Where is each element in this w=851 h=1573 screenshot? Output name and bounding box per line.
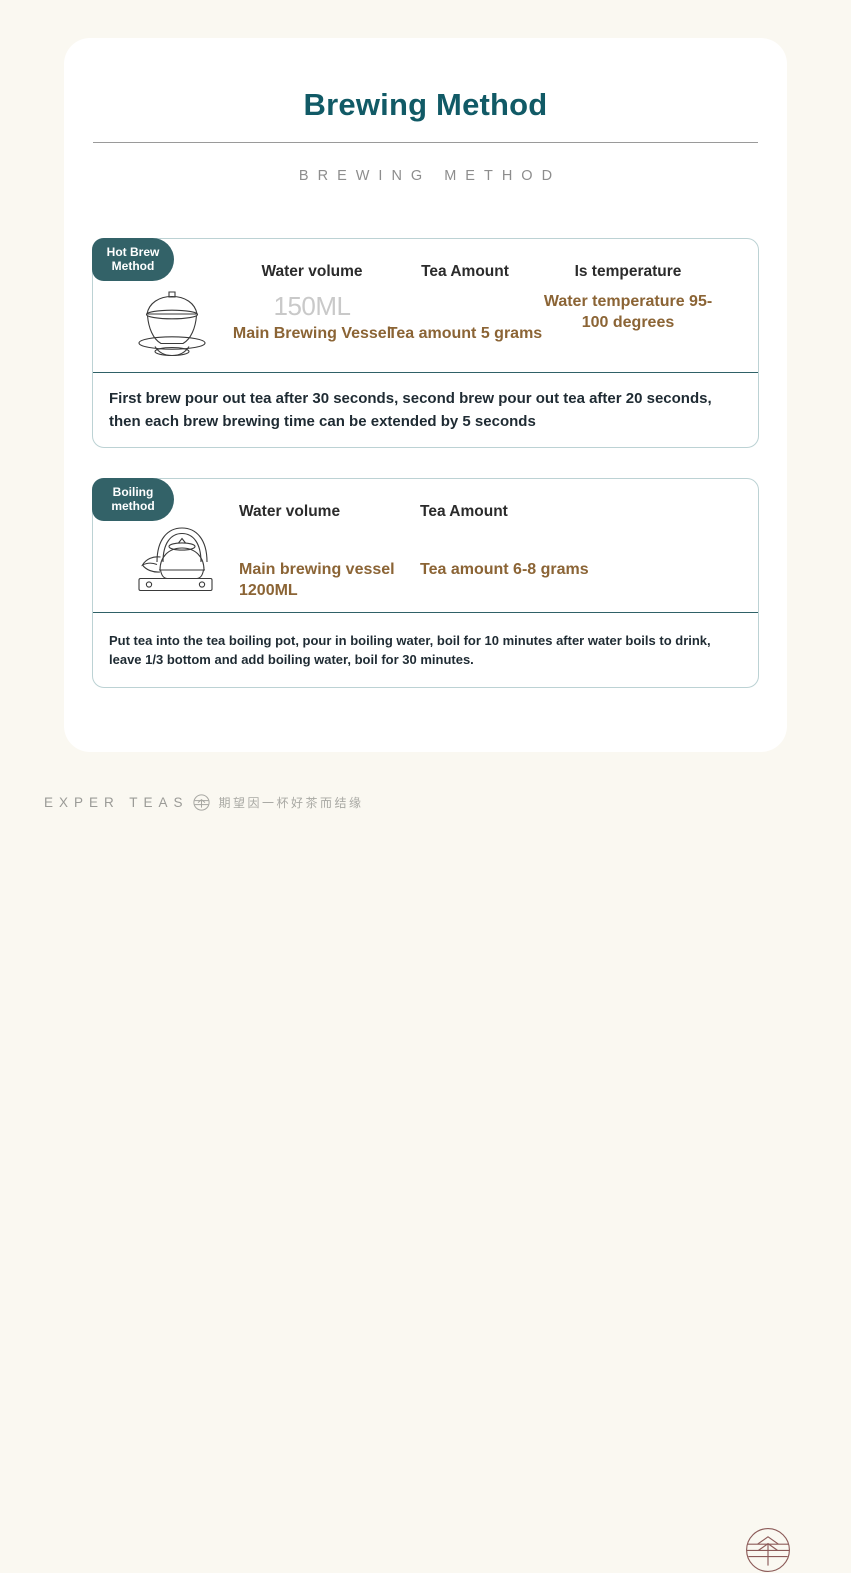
page-root: Brewing Method BREWING METHOD Hot Brew M… bbox=[0, 0, 851, 845]
circle-seal-icon bbox=[193, 794, 210, 811]
page-subtitle: BREWING METHOD bbox=[64, 168, 787, 184]
column-header-temperature: Is temperature bbox=[533, 263, 723, 281]
brewing-card-boiling: Boiling method bbox=[92, 478, 759, 688]
tab-label-line1: Boiling bbox=[113, 485, 154, 499]
content-panel: Brewing Method BREWING METHOD Hot Brew M… bbox=[64, 38, 787, 752]
card-tab-hot-brew[interactable]: Hot Brew Method bbox=[92, 238, 174, 281]
brand-tagline-cn: 期望因一杯好茶而结缘 bbox=[219, 794, 364, 811]
page-footer: EXPER TEAS 期望因一杯好茶而结缘 bbox=[0, 752, 851, 845]
card-tab-boiling[interactable]: Boiling method bbox=[92, 478, 174, 521]
kettle-icon bbox=[133, 517, 219, 598]
page-title: Brewing Method bbox=[64, 87, 787, 123]
card-body: Boiling method bbox=[93, 479, 758, 687]
column-header-tea-amount: Tea Amount bbox=[420, 503, 508, 521]
circle-seal-logo-icon bbox=[745, 1527, 791, 1573]
column-header-water-volume: Water volume bbox=[239, 503, 340, 521]
water-volume-watermark: 150ML bbox=[227, 291, 397, 322]
tab-label-line1: Hot Brew bbox=[107, 245, 160, 259]
brand-name: EXPER TEAS bbox=[44, 795, 189, 810]
card-divider bbox=[93, 372, 758, 373]
card-divider bbox=[93, 612, 758, 613]
card-body: Hot Brew Method bbox=[93, 239, 758, 447]
card-note-boiling: Put tea into the tea boiling pot, pour i… bbox=[109, 631, 742, 669]
tab-label-line2: Method bbox=[112, 259, 155, 273]
value-temperature: Water temperature 95-100 degrees bbox=[533, 291, 723, 333]
brewing-card-hot-brew: Hot Brew Method bbox=[92, 238, 759, 448]
brand-lockup: EXPER TEAS 期望因一杯好茶而结缘 bbox=[44, 794, 364, 811]
column-header-tea-amount: Tea Amount bbox=[380, 263, 550, 281]
tab-label-line2: method bbox=[111, 499, 154, 513]
value-tea-amount: Tea amount 5 grams bbox=[380, 323, 550, 344]
gaiwan-icon bbox=[133, 283, 211, 364]
value-water-volume: Main Brewing Vessel bbox=[227, 323, 397, 344]
value-water-volume: Main brewing vessel 1200ML bbox=[239, 559, 419, 601]
card-note-hot-brew: First brew pour out tea after 30 seconds… bbox=[109, 387, 742, 433]
title-divider bbox=[93, 142, 758, 143]
value-tea-amount: Tea amount 6-8 grams bbox=[420, 559, 600, 580]
column-header-water-volume: Water volume bbox=[227, 263, 397, 281]
